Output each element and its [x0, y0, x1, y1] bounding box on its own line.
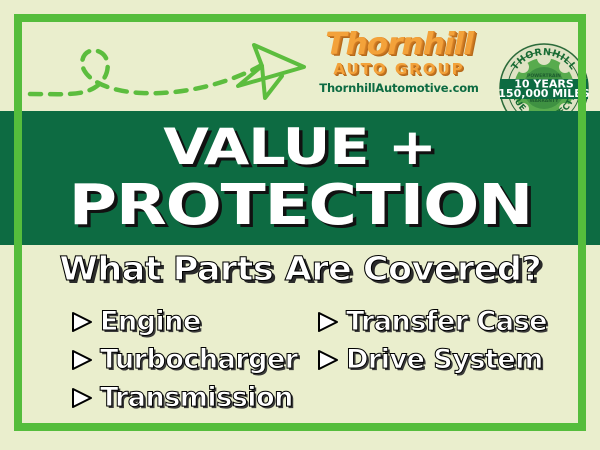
logo-wordmark: Thornhill	[315, 30, 483, 60]
triangle-right-icon	[70, 387, 94, 409]
part-label: Engine	[100, 307, 201, 337]
list-item: Transmission	[70, 381, 298, 415]
frame-border-top	[14, 14, 586, 22]
list-item: Transfer Case	[316, 305, 547, 339]
frame-border-left	[14, 14, 22, 431]
headline-line-2: PROTECTION	[68, 176, 532, 236]
promo-poster: Thornhill AUTO GROUP ThornhillAutomotive…	[0, 0, 600, 450]
covered-parts-list: Engine Turbocharger Transmission Tra	[22, 305, 578, 420]
frame-border-bottom	[14, 423, 586, 431]
headline-line-1: VALUE +	[164, 120, 437, 174]
triangle-right-icon	[70, 349, 94, 371]
parts-column-left: Engine Turbocharger Transmission	[70, 305, 298, 419]
triangle-right-icon	[316, 311, 340, 333]
triangle-right-icon	[316, 349, 340, 371]
list-item: Drive System	[316, 343, 547, 377]
parts-column-right: Transfer Case Drive System	[316, 305, 547, 381]
headline-text-group: VALUE + PROTECTION	[0, 111, 600, 245]
list-item: Turbocharger	[70, 343, 298, 377]
thornhill-logo: Thornhill AUTO GROUP ThornhillAutomotive…	[318, 30, 480, 95]
frame-border-right	[578, 14, 586, 431]
subheadline: What Parts Are Covered?	[0, 250, 600, 288]
list-item: Engine	[70, 305, 298, 339]
paper-plane-arrow-icon	[238, 45, 304, 98]
seal-miles-text: 150,000 MILES	[498, 87, 589, 100]
part-label: Transmission	[100, 383, 293, 413]
part-label: Turbocharger	[100, 345, 298, 375]
poster-header: Thornhill AUTO GROUP ThornhillAutomotive…	[22, 22, 578, 111]
subheadline-text: What Parts Are Covered?	[59, 250, 541, 288]
logo-website-url: ThornhillAutomotive.com	[318, 81, 480, 95]
logo-subtitle: AUTO GROUP	[318, 61, 480, 78]
triangle-right-icon	[70, 311, 94, 333]
part-label: Drive System	[346, 345, 543, 375]
part-label: Transfer Case	[346, 307, 547, 337]
dashed-loop-path-icon	[22, 22, 312, 111]
